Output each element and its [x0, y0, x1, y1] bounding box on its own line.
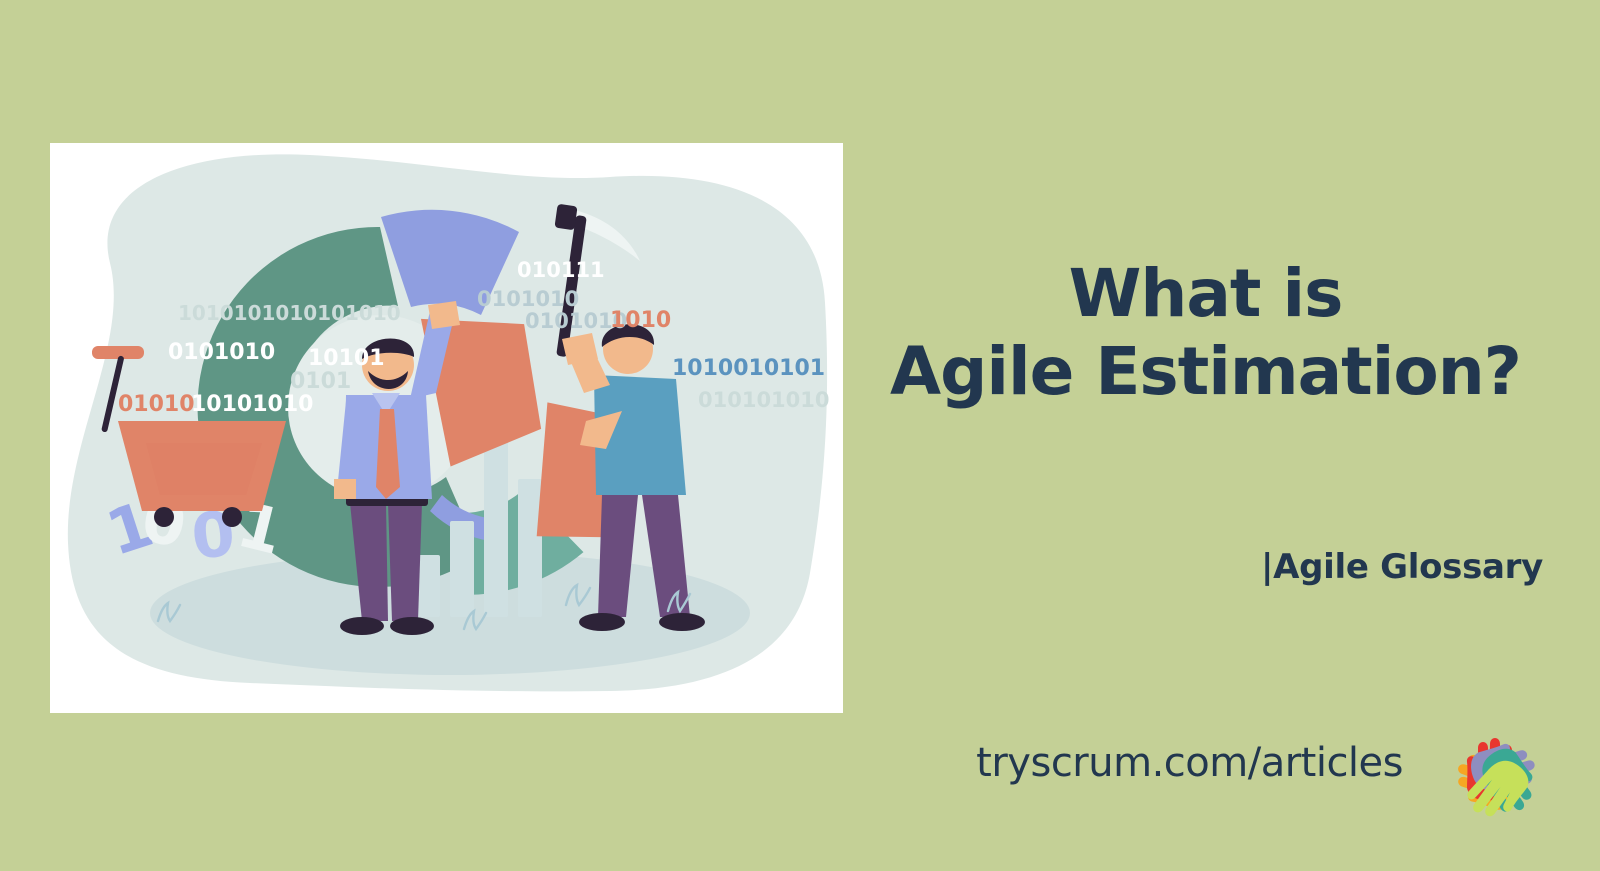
- cart-handle-grip: [92, 346, 144, 359]
- illustration-panel: 1 0 0 1: [50, 143, 843, 713]
- title-line-1: What is: [843, 255, 1568, 333]
- binary-label-9: 1010: [610, 308, 671, 333]
- bar-2: [450, 521, 474, 617]
- left-man-shoe-left: [340, 617, 384, 635]
- page-title: What is Agile Estimation?: [843, 255, 1568, 411]
- illustration-svg: 1 0 0 1: [50, 143, 843, 713]
- tryscrum-hands-logo: [1437, 718, 1557, 828]
- right-man-shoe-right: [659, 613, 705, 631]
- binary-label-2: 01010: [118, 392, 195, 417]
- binary-label-4: 10101: [308, 346, 385, 371]
- left-man-right-leg: [388, 503, 422, 621]
- left-man-hand-down: [334, 479, 356, 499]
- poster-canvas: 1 0 0 1: [0, 0, 1600, 871]
- cart-wheel-left: [154, 507, 174, 527]
- cart-wheel-right: [222, 507, 242, 527]
- binary-label-5: 0101: [290, 369, 351, 394]
- bar-4: [518, 479, 542, 617]
- binary-label-0: 1010101010101010: [178, 301, 401, 325]
- title-line-2: Agile Estimation?: [843, 333, 1568, 411]
- binary-label-11: 010101010: [698, 388, 830, 412]
- binary-label-3: 10101010: [191, 392, 313, 417]
- right-man-shoe-left: [579, 613, 625, 631]
- binary-label-10: 1010010101: [672, 356, 825, 381]
- binary-label-6: 010111: [517, 258, 605, 282]
- subtitle: |Agile Glossary: [843, 547, 1543, 587]
- binary-label-1: 0101010: [168, 340, 275, 365]
- pickaxe-top-block: [554, 204, 577, 231]
- binary-label-7: 0101010: [477, 287, 579, 311]
- left-man-hand-up: [428, 301, 460, 329]
- bar-3: [484, 431, 508, 617]
- site-url: tryscrum.com/articles: [843, 740, 1403, 786]
- cart-body-shade: [146, 443, 262, 495]
- left-man-shoe-right: [390, 617, 434, 635]
